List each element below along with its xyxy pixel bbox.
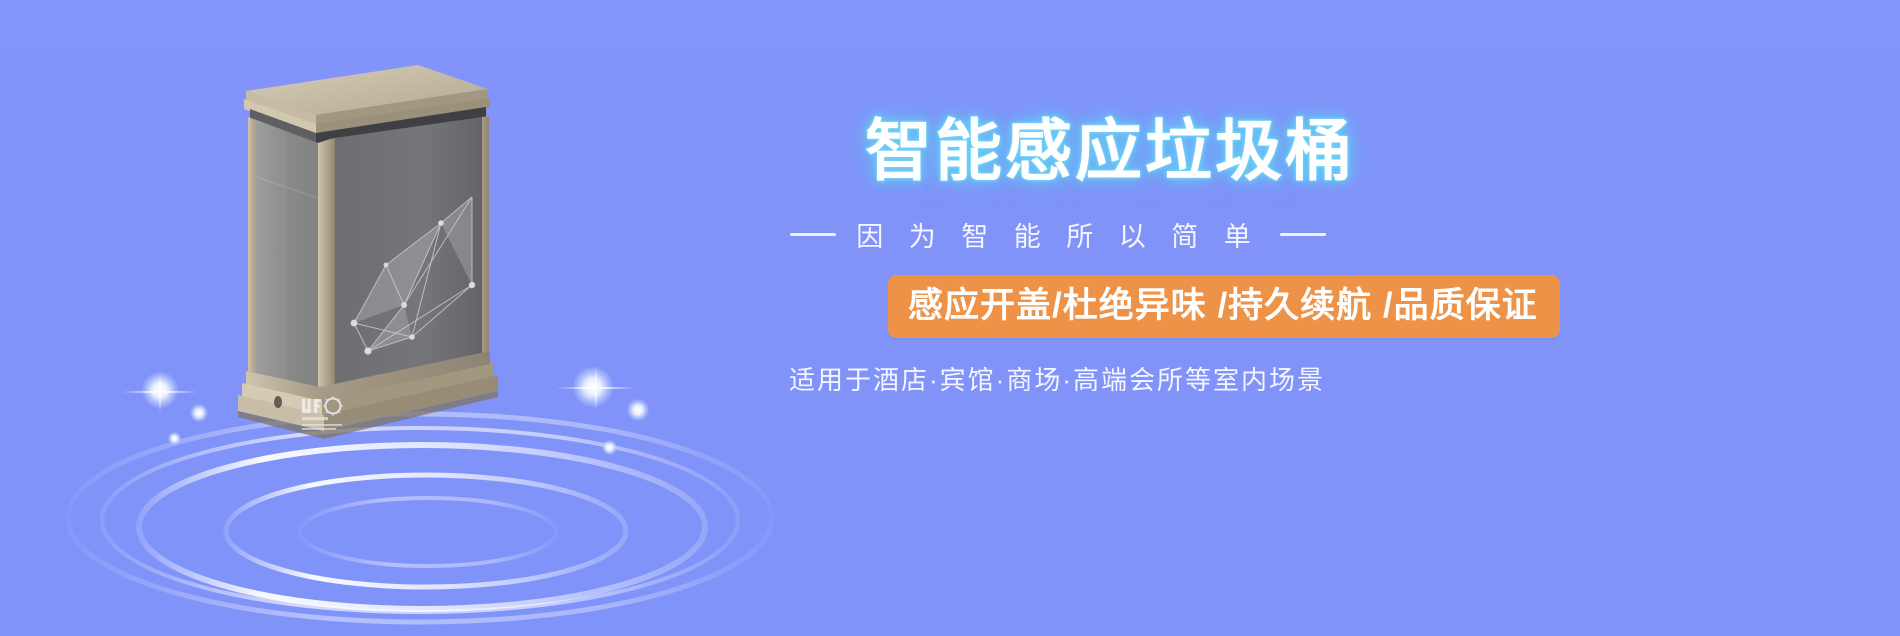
banner-subtitle: 因 为 智 能 所 以 简 单 <box>758 215 1358 254</box>
promo-banner: 智能感应垃圾桶 因 为 智 能 所 以 简 单 感应开盖/杜绝异味 /持久续航 … <box>0 0 1900 636</box>
subtitle-text: 因 为 智 能 所 以 简 单 <box>856 215 1260 254</box>
smart-trash-bin-product-image <box>236 55 498 445</box>
brand-logo-ufo <box>300 395 358 437</box>
banner-title: 智能感应垃圾桶 <box>865 118 1355 185</box>
feature-badge-text: 感应开盖/杜绝异味 /持久续航 /品质保证 <box>908 286 1538 325</box>
feature-badge: 感应开盖/杜绝异味 /持久续航 /品质保证 <box>888 275 1560 338</box>
usage-scenario-text: 适用于酒店·宾馆·商场·高端会所等室内场景 <box>742 360 1372 397</box>
banner-copy: 智能感应垃圾桶 因 为 智 能 所 以 简 单 感应开盖/杜绝异味 /持久续航 … <box>700 0 1900 636</box>
subtitle-dash-right <box>1280 233 1326 236</box>
subtitle-dash-left <box>790 233 836 236</box>
